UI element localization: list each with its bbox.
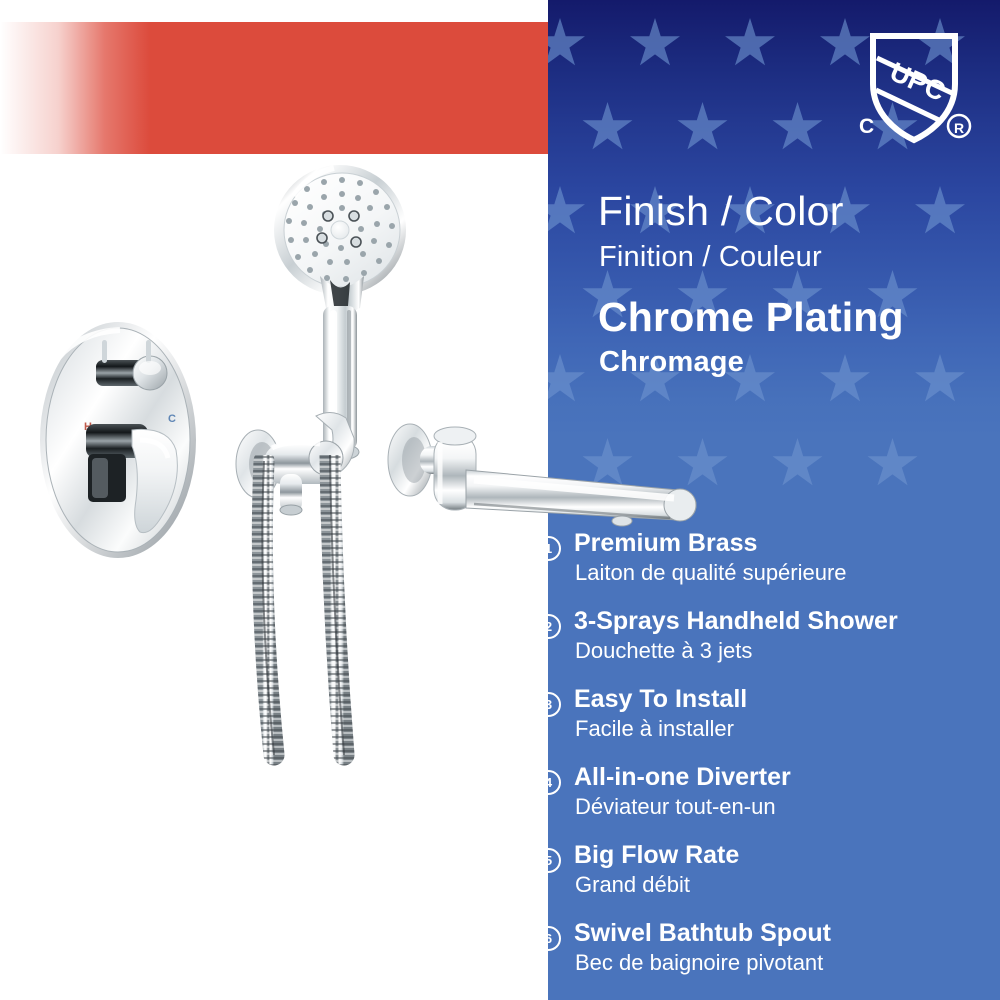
feature-title-fr: Facile à installer: [575, 716, 734, 742]
feature-title-fr: Déviateur tout-en-un: [575, 794, 776, 820]
feature-number-badge: 5: [536, 848, 561, 873]
star-icon: [772, 438, 824, 490]
star-icon: [724, 18, 776, 70]
finish-label-en: Finish / Color: [598, 188, 844, 235]
feature-number-badge: 4: [536, 770, 561, 795]
title-banner: [0, 22, 548, 154]
feature-item: 6Swivel Bathtub SpoutBec de baignoire pi…: [530, 915, 1000, 993]
feature-title-fr: Grand débit: [575, 872, 690, 898]
star-icon: [629, 18, 681, 70]
upc-certification-logo: UPC C R: [855, 28, 973, 148]
star-icon: [772, 102, 824, 154]
star-icon: [819, 354, 871, 406]
diverter-knob: [96, 340, 167, 390]
feature-title-en: Premium Brass: [574, 529, 757, 558]
feature-number-badge: 2: [536, 614, 561, 639]
feature-list: 1Premium BrassLaiton de qualité supérieu…: [530, 525, 1000, 993]
finish-value-en: Chrome Plating: [598, 294, 904, 341]
feature-item: 23-Sprays Handheld ShowerDouchette à 3 j…: [530, 603, 1000, 681]
hot-mark: H: [84, 421, 92, 433]
upc-registered-mark: R: [948, 115, 970, 137]
shower-holder-cradle: [316, 412, 354, 472]
flexible-shower-hose: [248, 455, 398, 775]
star-icon: [548, 186, 586, 238]
star-icon: [548, 18, 586, 70]
feature-title-fr: Laiton de qualité supérieure: [575, 560, 847, 586]
hose-strand-left: [262, 461, 274, 755]
star-icon: [582, 438, 634, 490]
star-icon: [677, 102, 729, 154]
star-icon: [548, 354, 586, 406]
star-icon: [867, 438, 919, 490]
handheld-showerhead: [268, 158, 428, 468]
star-icon: [914, 354, 966, 406]
feature-title-en: All-in-one Diverter: [574, 763, 791, 792]
feature-number-badge: 3: [536, 692, 561, 717]
valve-trim-diverter: H C: [28, 318, 208, 568]
feature-title-fr: Bec de baignoire pivotant: [575, 950, 823, 976]
wall-supply-elbow: [228, 408, 378, 528]
feature-title-en: Swivel Bathtub Spout: [574, 919, 831, 948]
feature-item: 1Premium BrassLaiton de qualité supérieu…: [530, 525, 1000, 603]
center-jets: [317, 211, 361, 247]
swivel-joint: [434, 434, 476, 510]
finish-value-fr: Chromage: [599, 346, 744, 379]
star-icon: [914, 186, 966, 238]
finish-label-fr: Finition / Couleur: [599, 241, 822, 274]
feature-title-en: 3-Sprays Handheld Shower: [574, 607, 898, 636]
feature-title-en: Big Flow Rate: [574, 841, 739, 870]
hose-strand-right: [330, 455, 344, 755]
spray-nozzles: [286, 177, 395, 282]
star-icon: [677, 438, 729, 490]
lever-handle: [86, 424, 177, 533]
svg-text:R: R: [954, 120, 964, 136]
feature-number-badge: 1: [536, 536, 561, 561]
feature-item: 3Easy To InstallFacile à installer: [530, 681, 1000, 759]
upc-c-mark: C: [859, 115, 874, 138]
feature-title-fr: Douchette à 3 jets: [575, 638, 752, 664]
feature-item: 4All-in-one DiverterDéviateur tout-en-un: [530, 759, 1000, 837]
feature-title-en: Easy To Install: [574, 685, 747, 714]
star-icon: [582, 102, 634, 154]
feature-item: 5Big Flow RateGrand débit: [530, 837, 1000, 915]
feature-number-badge: 6: [536, 926, 561, 951]
cold-mark: C: [168, 413, 176, 425]
